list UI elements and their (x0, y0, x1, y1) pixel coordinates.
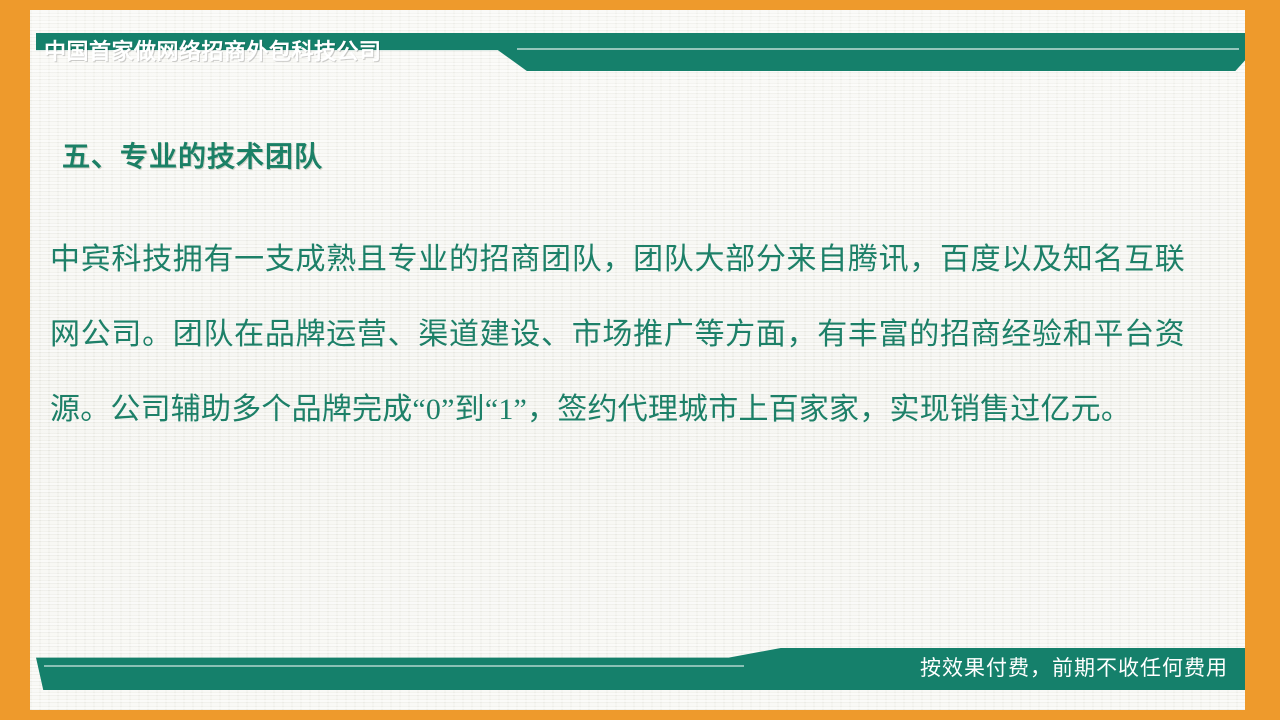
body-paragraph: 中宾科技拥有一支成熟且专业的招商团队，团队大部分来自腾讯，百度以及知名互联网公司… (50, 222, 1185, 447)
header-hairline-divider (517, 48, 1239, 50)
footer-hairline-divider (44, 665, 744, 667)
footer-slogan: 按效果付费，前期不收任何费用 (920, 651, 1228, 687)
presentation-slide: 中国首家做网络招商外包科技公司 五、专业的技术团队 中宾科技拥有一支成熟且专业的… (0, 0, 1280, 720)
header-title: 中国首家做网络招商外包科技公司 (44, 33, 382, 71)
section-heading: 五、专业的技术团队 (62, 135, 323, 175)
body-paragraph-block: 中宾科技拥有一支成熟且专业的招商团队，团队大部分来自腾讯，百度以及知名互联网公司… (50, 222, 1185, 447)
